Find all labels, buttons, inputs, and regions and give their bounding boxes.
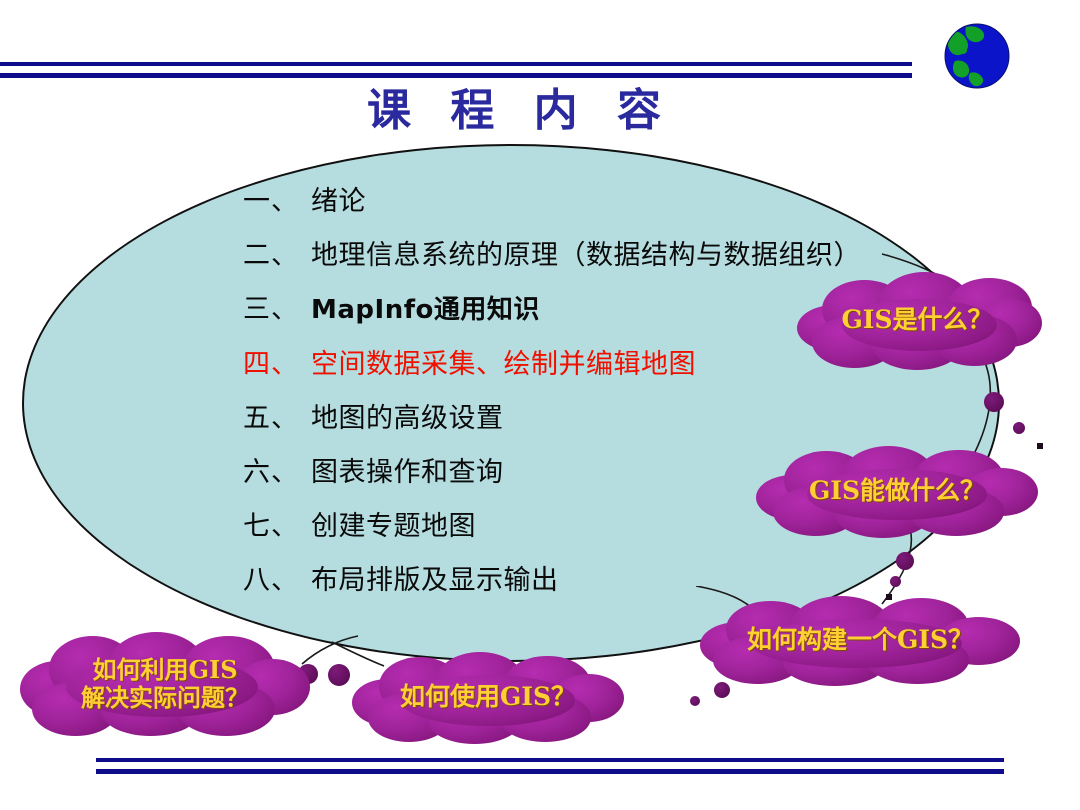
bottom-divider-line-2 — [96, 769, 1004, 774]
page-title: 课 程 内 容 — [0, 86, 1040, 136]
bubble-cloud-shape — [792, 272, 1042, 368]
thought-bubble-gis-can-do: GIS能做什么？ — [756, 446, 1038, 536]
bubble-tail-dot-medium-2 — [890, 576, 901, 587]
bubble-cloud-shape — [20, 632, 310, 736]
outline-item-8-number: 八、 — [243, 565, 299, 596]
outline-item-8: 八、布局排版及显示输出 — [243, 565, 933, 596]
outline-item-6-number: 六、 — [243, 457, 299, 488]
outline-item-3-number: 三、 — [243, 294, 299, 325]
outline-item-2: 二、地理信息系统的原理（数据结构与数据组织） — [243, 240, 933, 271]
earth-globe-icon — [942, 21, 1012, 91]
outline-item-1-label: 绪论 — [311, 186, 366, 217]
outline-item-4-label: 空间数据采集、绘制并编辑地图 — [311, 349, 696, 380]
outline-item-7-number: 七、 — [243, 511, 299, 542]
top-divider-line-2 — [0, 73, 912, 78]
course-outline-list: 一、绪论 二、地理信息系统的原理（数据结构与数据组织） 三、MapInfo通用知… — [243, 186, 933, 619]
outline-item-2-label: 地理信息系统的原理（数据结构与数据组织） — [311, 240, 861, 271]
outline-item-4-number: 四、 — [243, 349, 299, 380]
thought-bubble-how-use-gis: 如何使用GIS？ — [352, 652, 624, 742]
outline-item-8-label: 布局排版及显示输出 — [311, 565, 559, 596]
thought-bubble-how-solve: 如何利用GIS 解决实际问题？ — [20, 632, 310, 736]
bubble-tail-dot-large-3 — [714, 682, 730, 698]
outline-item-1: 一、绪论 — [243, 186, 933, 217]
outline-item-7-label: 创建专题地图 — [311, 511, 476, 542]
bubble-tail-dot-medium-1 — [1013, 422, 1025, 434]
bubble-cloud-shape — [700, 596, 1020, 684]
bubble-cloud-shape — [756, 446, 1038, 536]
outline-item-5: 五、地图的高级设置 — [243, 403, 933, 434]
outline-item-3-label: MapInfo通用知识 — [311, 295, 540, 325]
bubble-tail-dot-large-1 — [984, 392, 1004, 412]
thought-bubble-gis-what: GIS是什么？ — [792, 272, 1042, 368]
outline-item-2-number: 二、 — [243, 240, 299, 271]
outline-item-1-number: 一、 — [243, 186, 299, 217]
bubble-cloud-shape — [352, 652, 624, 742]
bubble-tail-dot-medium-3 — [690, 696, 700, 706]
outline-item-6-label: 图表操作和查询 — [311, 457, 504, 488]
top-divider-line-1 — [0, 62, 912, 66]
bubble-tail-dot-large-2 — [896, 552, 914, 570]
outline-item-5-number: 五、 — [243, 403, 299, 434]
thought-bubble-how-build: 如何构建一个GIS？ — [700, 596, 1020, 684]
outline-item-5-label: 地图的高级设置 — [311, 403, 504, 434]
bottom-divider-line-1 — [96, 758, 1004, 762]
